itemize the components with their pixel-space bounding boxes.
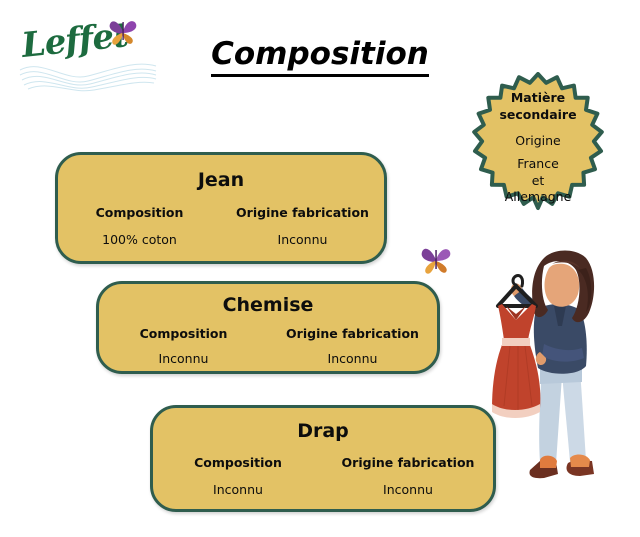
badge-origin-value-line1: France	[505, 156, 572, 173]
card-value-row: Inconnu Inconnu	[153, 482, 493, 497]
card-header-row: Composition Origine fabrication	[99, 326, 437, 341]
card-title: Jean	[58, 169, 384, 191]
card-header-row: Composition Origine fabrication	[58, 205, 384, 220]
poster-canvas: Leffet Composition Matière secondaire Or…	[0, 0, 640, 537]
badge-origin-value: France et Allemagne	[505, 156, 572, 206]
butterfly-icon	[419, 243, 453, 275]
woman-holding-dress-illustration	[492, 248, 640, 484]
badge-origin-value-line2: et	[505, 173, 572, 190]
page-title: Composition	[0, 36, 640, 72]
composition-label: Composition	[99, 326, 268, 341]
product-card-chemise[interactable]: Chemise Composition Origine fabrication …	[96, 281, 440, 374]
origine-value: Inconnu	[268, 351, 437, 366]
composition-value: 100% coton	[58, 232, 221, 247]
card-header-row: Composition Origine fabrication	[153, 455, 493, 470]
card-value-row: 100% coton Inconnu	[58, 232, 384, 247]
product-card-drap[interactable]: Drap Composition Origine fabrication Inc…	[150, 405, 496, 512]
origine-label: Origine fabrication	[268, 326, 437, 341]
badge-heading: Matière secondaire	[499, 90, 576, 124]
origine-value: Inconnu	[323, 482, 493, 497]
page-title-text: Composition	[211, 36, 429, 77]
badge-heading-line2: secondaire	[499, 107, 576, 124]
origine-label: Origine fabrication	[221, 205, 384, 220]
product-card-jean[interactable]: Jean Composition Origine fabrication 100…	[55, 152, 387, 264]
shoes-shape	[530, 454, 594, 478]
secondary-material-badge: Matière secondaire Origine France et All…	[472, 72, 604, 227]
red-dress-shape	[492, 304, 540, 418]
badge-origin-value-line3: Allemagne	[505, 189, 572, 206]
composition-label: Composition	[153, 455, 323, 470]
origine-value: Inconnu	[221, 232, 384, 247]
badge-content: Matière secondaire Origine France et All…	[472, 72, 604, 227]
card-title: Drap	[153, 420, 493, 442]
card-value-row: Inconnu Inconnu	[99, 351, 437, 366]
card-title: Chemise	[99, 294, 437, 316]
composition-value: Inconnu	[99, 351, 268, 366]
origine-label: Origine fabrication	[323, 455, 493, 470]
jeans-shape	[539, 368, 586, 464]
composition-value: Inconnu	[153, 482, 323, 497]
badge-heading-line1: Matière	[499, 90, 576, 107]
composition-label: Composition	[58, 205, 221, 220]
badge-origin-label: Origine	[515, 133, 560, 150]
